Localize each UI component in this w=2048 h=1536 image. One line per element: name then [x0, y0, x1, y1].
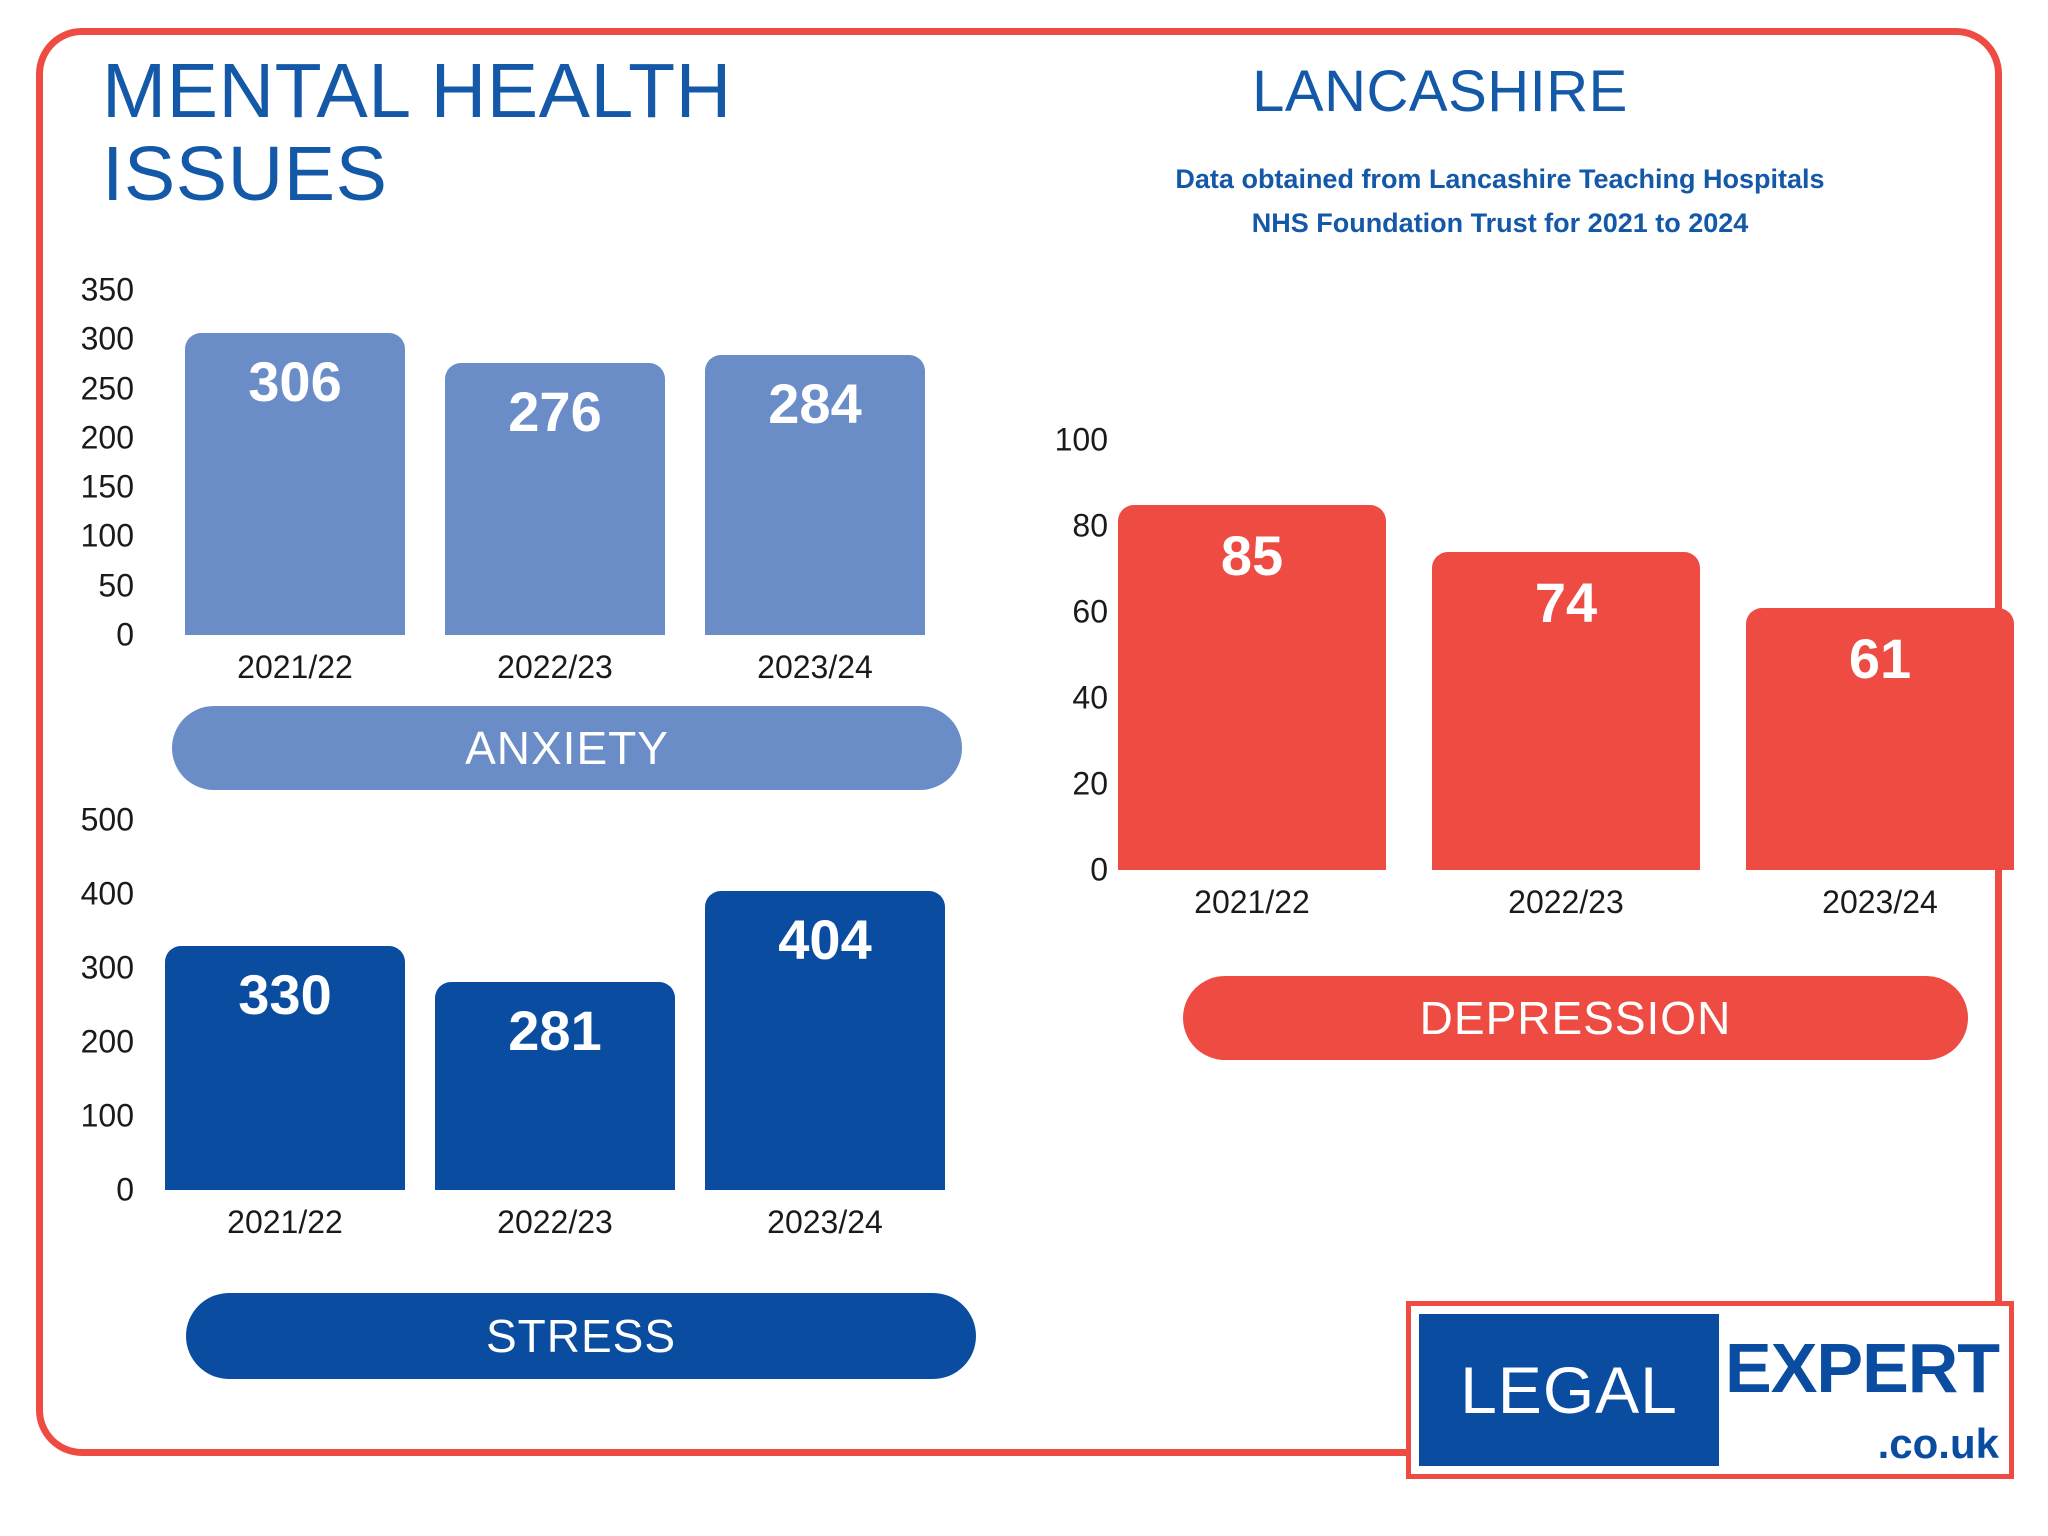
bar-value-label: 330: [165, 962, 405, 1027]
logo-right: EXPERT .co.uk: [1719, 1306, 2009, 1474]
y-tick-label: 50: [98, 567, 134, 604]
y-tick-label: 250: [81, 370, 134, 407]
bar-value-label: 61: [1746, 626, 2014, 691]
logo-legal-text: LEGAL: [1460, 1352, 1678, 1428]
category-label-depression: DEPRESSION: [1183, 976, 1968, 1060]
bar-value-label: 281: [435, 998, 675, 1063]
legal-expert-logo: LEGAL EXPERT .co.uk: [1406, 1301, 2014, 1479]
data-source-subtitle: Data obtained from Lancashire Teaching H…: [1070, 158, 1930, 245]
page-title: MENTAL HEALTH ISSUES: [102, 50, 882, 216]
y-tick-label: 400: [81, 876, 134, 913]
chart-anxiety: 350300250200150100500 3062021/222762022/…: [66, 290, 966, 635]
bar-value-label: 306: [185, 349, 405, 414]
chart-stress-plot: 3302021/222812022/234042023/24: [144, 820, 966, 1190]
y-tick-label: 0: [1090, 852, 1108, 889]
x-tick-label: 2022/23: [435, 1204, 675, 1241]
y-tick-label: 500: [81, 802, 134, 839]
region-title: LANCASHIRE: [1070, 58, 1810, 125]
chart-anxiety-y-axis: 350300250200150100500: [66, 290, 134, 635]
y-tick-label: 0: [116, 1172, 134, 1209]
bar: 281: [435, 982, 675, 1190]
y-tick-label: 350: [81, 272, 134, 309]
y-tick-label: 20: [1072, 766, 1108, 803]
y-tick-label: 100: [81, 1098, 134, 1135]
chart-depression: 100806040200 852021/22742022/23612023/24: [1040, 440, 1920, 870]
x-tick-label: 2022/23: [445, 649, 665, 686]
y-tick-label: 300: [81, 950, 134, 987]
logo-legal-box: LEGAL: [1419, 1314, 1719, 1466]
page-title-line2: ISSUES: [102, 133, 882, 216]
logo-domain-text: .co.uk: [1878, 1420, 1999, 1468]
bar: 306: [185, 333, 405, 635]
category-label-stress: STRESS: [186, 1293, 976, 1379]
y-tick-label: 200: [81, 419, 134, 456]
bar: 404: [705, 891, 945, 1190]
y-tick-label: 100: [1055, 422, 1108, 459]
x-tick-label: 2021/22: [1118, 884, 1386, 921]
category-label-anxiety: ANXIETY: [172, 706, 962, 790]
bar-value-label: 74: [1432, 570, 1700, 635]
chart-stress: 5004003002001000 3302021/222812022/23404…: [66, 820, 966, 1190]
y-tick-label: 60: [1072, 594, 1108, 631]
x-tick-label: 2022/23: [1432, 884, 1700, 921]
bar: 284: [705, 355, 925, 635]
bar-value-label: 85: [1118, 523, 1386, 588]
bar: 276: [445, 363, 665, 635]
x-tick-label: 2023/24: [705, 1204, 945, 1241]
y-tick-label: 40: [1072, 680, 1108, 717]
x-tick-label: 2023/24: [705, 649, 925, 686]
subtitle-line2: NHS Foundation Trust for 2021 to 2024: [1070, 202, 1930, 246]
bar: 85: [1118, 505, 1386, 871]
page-title-line1: MENTAL HEALTH: [102, 50, 882, 133]
x-tick-label: 2023/24: [1746, 884, 2014, 921]
chart-anxiety-plot: 3062021/222762022/232842023/24: [144, 290, 966, 635]
bar: 61: [1746, 608, 2014, 870]
subtitle-line1: Data obtained from Lancashire Teaching H…: [1070, 158, 1930, 202]
chart-depression-y-axis: 100806040200: [1040, 440, 1108, 870]
y-tick-label: 200: [81, 1024, 134, 1061]
y-tick-label: 0: [116, 617, 134, 654]
bar: 74: [1432, 552, 1700, 870]
bar-value-label: 284: [705, 371, 925, 436]
x-tick-label: 2021/22: [185, 649, 405, 686]
x-tick-label: 2021/22: [165, 1204, 405, 1241]
y-tick-label: 300: [81, 321, 134, 358]
y-tick-label: 80: [1072, 508, 1108, 545]
bar-value-label: 404: [705, 907, 945, 972]
y-tick-label: 150: [81, 469, 134, 506]
y-tick-label: 100: [81, 518, 134, 555]
bar-value-label: 276: [445, 379, 665, 444]
bar: 330: [165, 946, 405, 1190]
chart-depression-plot: 852021/22742022/23612023/24: [1118, 440, 1920, 870]
chart-stress-y-axis: 5004003002001000: [66, 820, 134, 1190]
logo-expert-text: EXPERT: [1725, 1328, 1999, 1408]
